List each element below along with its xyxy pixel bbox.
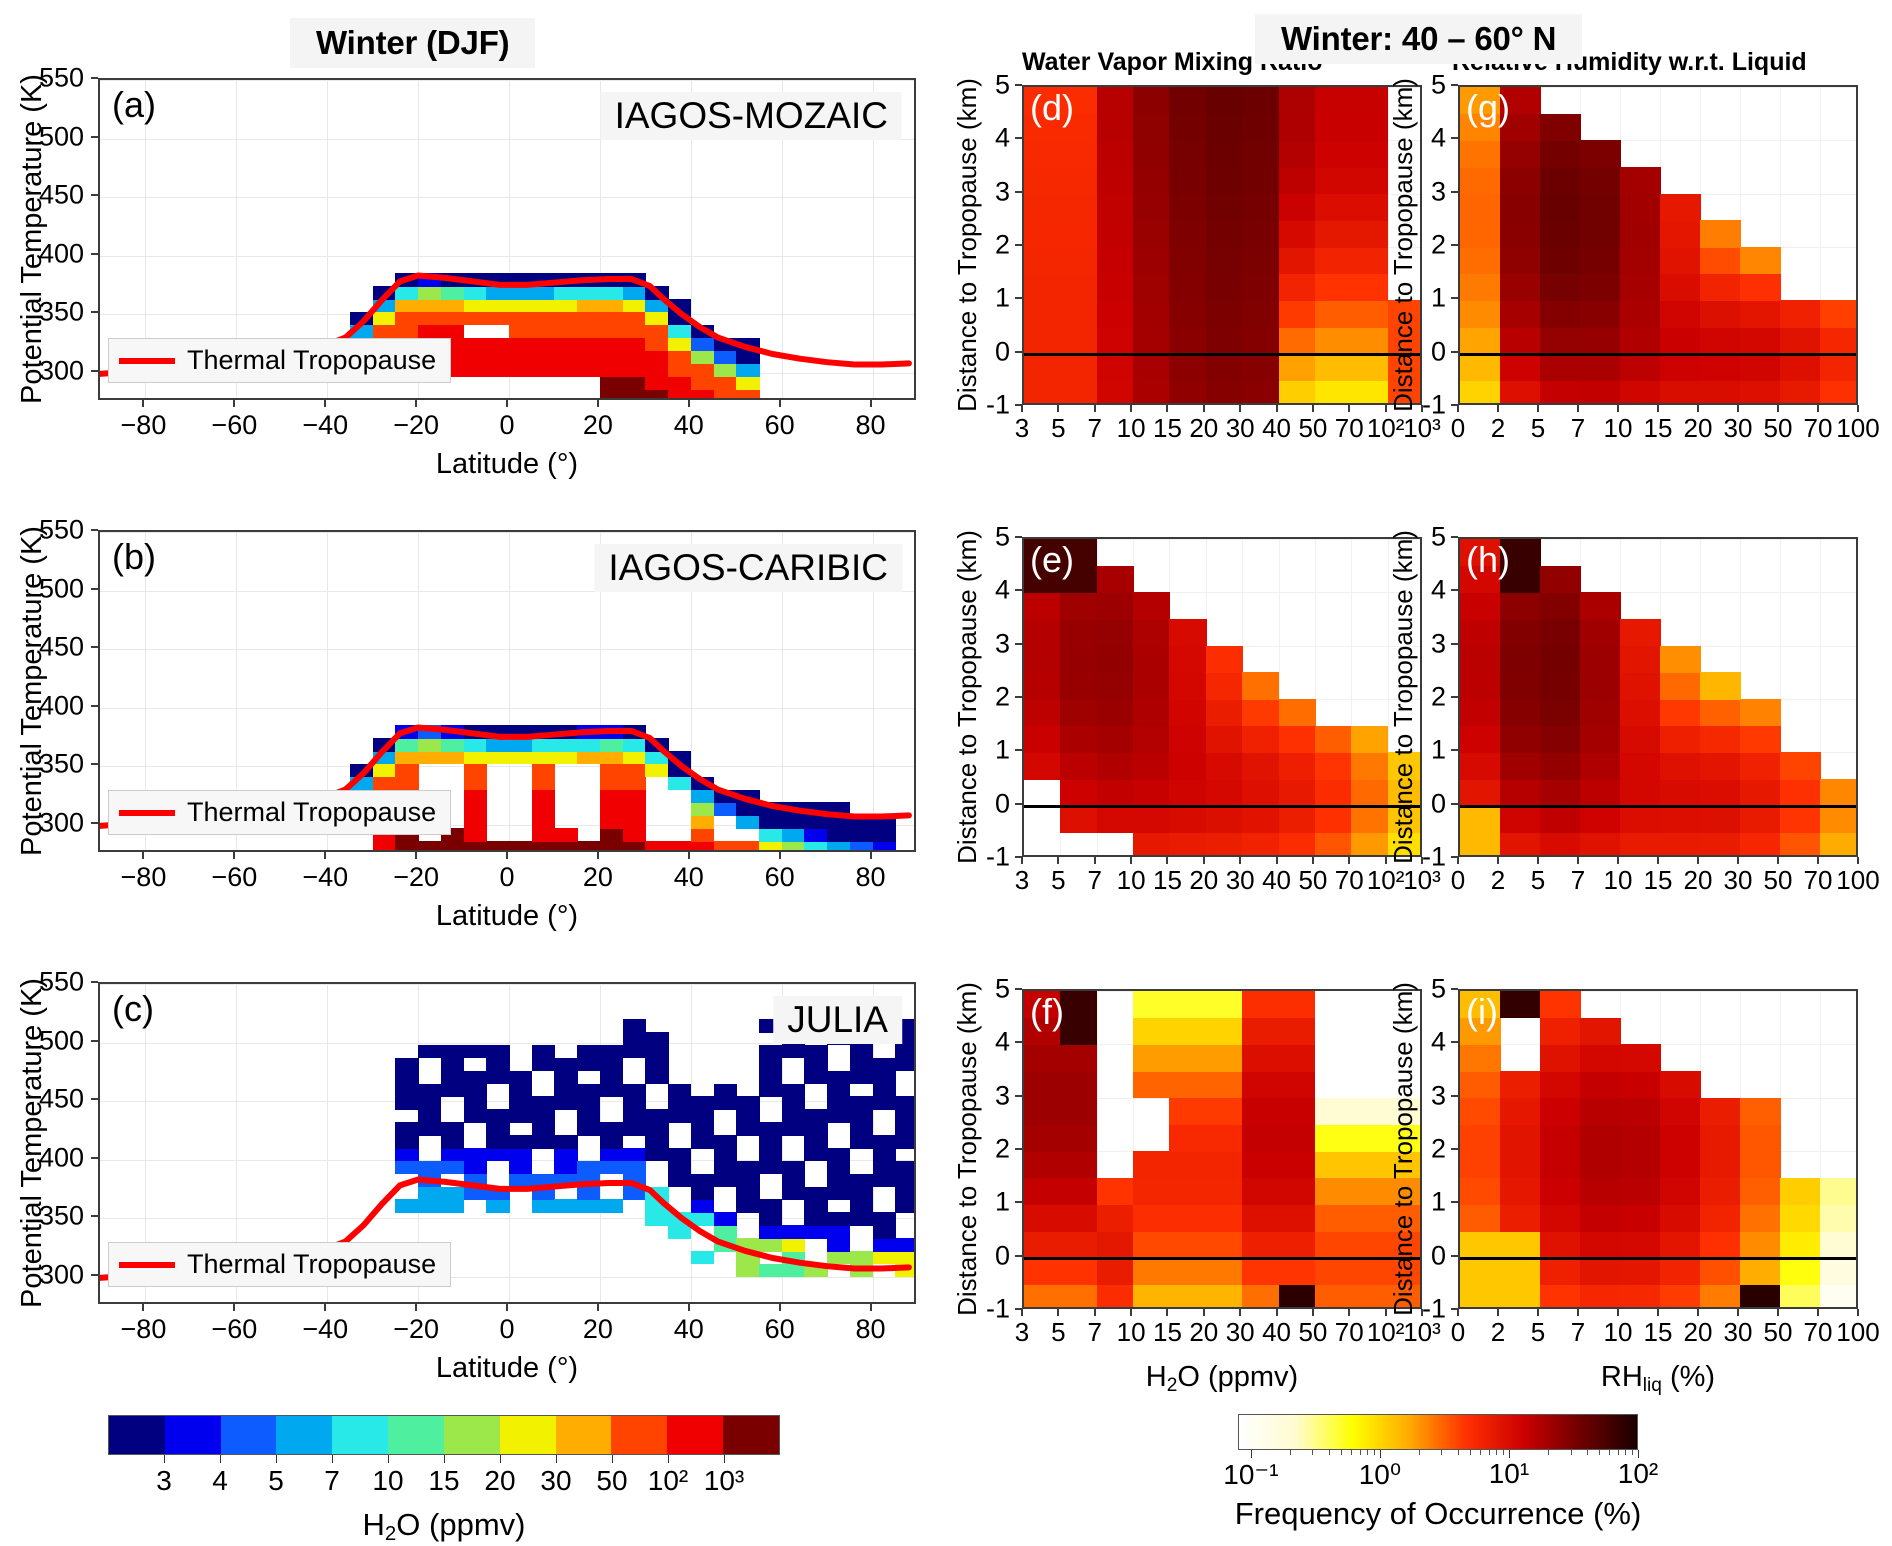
frequency-cell — [1500, 646, 1541, 673]
xtick-label: 20 — [1684, 865, 1713, 896]
ytick-label: 3 — [1431, 176, 1446, 207]
panel-tag-d: (d) — [1030, 87, 1074, 129]
xtick-mark — [1312, 405, 1314, 412]
frequency-cell — [1660, 300, 1701, 327]
frequency-cell — [1169, 114, 1206, 141]
frequency-cell — [1500, 1204, 1541, 1231]
frequency-cell — [1206, 140, 1243, 167]
ytick-mark — [1451, 1201, 1458, 1203]
frequency-cell — [1279, 114, 1316, 141]
frequency-cell — [1700, 1178, 1741, 1205]
xtick-label: 7 — [1571, 413, 1585, 444]
xtick-mark — [233, 1304, 235, 1311]
xtick-label: 5 — [1531, 1317, 1545, 1348]
frequency-cell — [1700, 672, 1741, 699]
frequency-cell — [1660, 380, 1701, 405]
frequency-cell — [1580, 1151, 1621, 1178]
colorbar-segment — [667, 1416, 723, 1454]
frequency-cell — [1620, 699, 1661, 726]
ytick-mark — [91, 1040, 98, 1042]
frequency-cell — [1660, 1204, 1701, 1231]
frequency-cell — [1740, 832, 1781, 857]
frequency-cell — [1780, 779, 1821, 806]
frequency-cell — [1206, 167, 1243, 194]
colorbar-minor-tick — [1470, 1450, 1471, 1455]
frequency-cell — [1540, 220, 1581, 247]
frequency-cell — [1279, 167, 1316, 194]
ytick-mark — [91, 822, 98, 824]
frequency-cell — [1740, 699, 1781, 726]
colorbar-h2o — [108, 1415, 780, 1455]
frequency-cell — [1660, 779, 1701, 806]
frequency-cell — [1169, 274, 1206, 301]
ytick-label: 3 — [995, 628, 1010, 659]
frequency-cell — [1242, 327, 1279, 354]
frequency-cell — [1242, 672, 1279, 699]
panel-tag-e: (e) — [1030, 539, 1074, 581]
suptitle-left: Winter (DJF) — [290, 18, 535, 68]
xtick-label: 70 — [1804, 413, 1833, 444]
frequency-cell — [1580, 354, 1621, 381]
frequency-cell — [1820, 327, 1858, 354]
frequency-cell — [1700, 1204, 1741, 1231]
frequency-cell — [1740, 1258, 1781, 1285]
frequency-cell — [1540, 1178, 1581, 1205]
frequency-cell — [1097, 752, 1134, 779]
xtick-mark — [415, 1304, 417, 1311]
frequency-cell — [1351, 1204, 1388, 1231]
ytick-label: 5 — [995, 522, 1010, 553]
frequency-cell — [1540, 274, 1581, 301]
frequency-cell — [1242, 114, 1279, 141]
frequency-cell — [1206, 1044, 1243, 1071]
xtick-label: 80 — [856, 862, 886, 893]
frequency-cell — [1279, 247, 1316, 274]
frequency-cell — [1133, 1204, 1170, 1231]
xtick-mark — [1094, 1309, 1096, 1316]
xtick-mark — [1239, 405, 1241, 412]
frequency-cell — [1315, 1178, 1352, 1205]
frequency-cell — [1060, 1204, 1097, 1231]
xtick-mark — [1537, 857, 1539, 864]
frequency-cell — [1580, 1018, 1621, 1045]
frequency-cell — [1206, 1018, 1243, 1045]
colorbar-tick-label: 10⁰ — [1359, 1458, 1401, 1491]
ytick-mark — [1015, 351, 1022, 353]
colorbar-minor-tick — [1351, 1450, 1352, 1455]
colorbar-tick — [1509, 1450, 1510, 1458]
tropopause-zero-line — [1024, 353, 1420, 356]
ytick-mark — [91, 370, 98, 372]
ytick-label: -1 — [986, 390, 1010, 421]
frequency-cell — [1242, 167, 1279, 194]
panel-tag-f: (f) — [1030, 991, 1064, 1033]
frequency-cell — [1460, 1231, 1501, 1258]
xtick-mark — [1457, 1309, 1459, 1316]
frequency-cell — [1500, 1284, 1541, 1309]
frequency-cell — [1133, 327, 1170, 354]
frequency-cell — [1700, 1151, 1741, 1178]
xtick-mark — [506, 1304, 508, 1311]
frequency-cell — [1540, 1204, 1581, 1231]
ytick-label: 3 — [995, 176, 1010, 207]
xtick-mark — [1657, 1309, 1659, 1316]
frequency-cell — [1460, 1044, 1501, 1071]
frequency-cell — [1780, 1231, 1821, 1258]
xtick-label: 0 — [1451, 865, 1465, 896]
ytick-label: 4 — [1431, 123, 1446, 154]
frequency-cell — [1206, 1151, 1243, 1178]
frequency-cell — [1097, 1231, 1134, 1258]
frequency-cell — [1024, 274, 1061, 301]
ytick-mark — [1451, 643, 1458, 645]
frequency-cell — [1024, 1098, 1061, 1125]
ytick-mark — [1015, 589, 1022, 591]
xtick-label: 5 — [1051, 413, 1065, 444]
frequency-cell — [1206, 1284, 1243, 1309]
frequency-cell — [1780, 1204, 1821, 1231]
frequency-cell — [1580, 140, 1621, 167]
frequency-cell — [1060, 1178, 1097, 1205]
frequency-cell — [1351, 354, 1388, 381]
frequency-cell — [1351, 1284, 1388, 1309]
colorbar-tick-label: 10³ — [704, 1465, 744, 1497]
colorbar-tick-label: 30 — [540, 1465, 571, 1497]
xtick-label: 10 — [1604, 413, 1633, 444]
frequency-cell — [1780, 1178, 1821, 1205]
colorbar-tick — [500, 1455, 501, 1463]
frequency-cell — [1169, 194, 1206, 221]
xtick-mark — [1385, 405, 1387, 412]
colorbar-minor-tick — [1609, 1450, 1610, 1455]
xtick-label: 15 — [1644, 865, 1673, 896]
frequency-cell — [1206, 699, 1243, 726]
frequency-cell — [1279, 1098, 1316, 1125]
frequency-cell — [1580, 327, 1621, 354]
frequency-cell — [1620, 327, 1661, 354]
frequency-cell — [1620, 832, 1661, 857]
frequency-cell — [1580, 167, 1621, 194]
frequency-cell — [1169, 646, 1206, 673]
colorbar-minor-tick — [1489, 1450, 1490, 1455]
frequency-cell — [1315, 991, 1352, 1018]
dataset-name-0: IAGOS-MOZAIC — [601, 92, 902, 140]
colorbar-segment — [723, 1416, 779, 1454]
xtick-mark — [1577, 857, 1579, 864]
ytick-mark — [91, 705, 98, 707]
frequency-cell — [1060, 726, 1097, 753]
ytick-label: 2 — [995, 230, 1010, 261]
frequency-cell — [1315, 247, 1352, 274]
frequency-cell — [1580, 1284, 1621, 1309]
xtick-mark — [688, 400, 690, 407]
frequency-cell — [1206, 300, 1243, 327]
frequency-cell — [1206, 1204, 1243, 1231]
frequency-cell — [1279, 699, 1316, 726]
colorbar-tick-label: 3 — [156, 1465, 172, 1497]
frequency-cell — [1097, 566, 1134, 593]
colorbar-tick-label: 10² — [1618, 1458, 1658, 1490]
colorbar-minor-tick — [1625, 1450, 1626, 1455]
frequency-cell — [1580, 779, 1621, 806]
ytick-mark — [91, 1215, 98, 1217]
ytick-mark — [1015, 191, 1022, 193]
frequency-cell — [1540, 1071, 1581, 1098]
colorbar-minor-tick — [1632, 1450, 1633, 1455]
frequency-cell — [1206, 1258, 1243, 1285]
frequency-cell — [1133, 1071, 1170, 1098]
colorbar-tick — [388, 1455, 389, 1463]
frequency-cell — [1740, 1124, 1781, 1151]
xtick-mark — [1817, 1309, 1819, 1316]
xtick-label: −40 — [302, 1314, 348, 1345]
frequency-cell — [1820, 1178, 1858, 1205]
frequency-cell — [1024, 646, 1061, 673]
xtick-mark — [1130, 405, 1132, 412]
frequency-cell — [1242, 1018, 1279, 1045]
frequency-cell — [1133, 380, 1170, 405]
frequency-cell — [1279, 1071, 1316, 1098]
frequency-cell — [1060, 806, 1097, 833]
frequency-cell — [1500, 1124, 1541, 1151]
frequency-cell — [1500, 779, 1541, 806]
frequency-cell — [1133, 832, 1170, 857]
frequency-cell — [1169, 726, 1206, 753]
frequency-cell — [1700, 354, 1741, 381]
frequency-cell — [1740, 247, 1781, 274]
frequency-cell — [1780, 752, 1821, 779]
frequency-cell — [1097, 274, 1134, 301]
ytick-label: 1 — [1431, 735, 1446, 766]
frequency-cell — [1620, 752, 1661, 779]
xtick-label: 30 — [1724, 865, 1753, 896]
frequency-cell — [1097, 1204, 1134, 1231]
frequency-cell — [1460, 220, 1501, 247]
frequency-cell — [1700, 699, 1741, 726]
colorbar-title-frequency: Frequency of Occurrence (%) — [1235, 1496, 1642, 1532]
ytick-mark — [1015, 643, 1022, 645]
frequency-cell — [1315, 1018, 1352, 1045]
frequency-cell — [1740, 779, 1781, 806]
frequency-cell — [1351, 1124, 1388, 1151]
xtick-label: 0 — [1451, 413, 1465, 444]
frequency-cell — [1460, 300, 1501, 327]
frequency-cell — [1024, 1204, 1061, 1231]
xaxis-label: Latitude (°) — [436, 900, 578, 933]
ytick-mark — [91, 194, 98, 196]
xtick-label: 5 — [1051, 1317, 1065, 1348]
suptitle-right: Winter: 40 – 60° N — [1255, 14, 1582, 64]
frequency-cell — [1351, 806, 1388, 833]
ytick-label: 4 — [995, 123, 1010, 154]
xtick-label: −60 — [211, 862, 257, 893]
ytick-mark — [1015, 1041, 1022, 1043]
frequency-cell — [1740, 327, 1781, 354]
frequency-cell — [1279, 1124, 1316, 1151]
frequency-cell — [1097, 167, 1134, 194]
ytick-mark — [1451, 244, 1458, 246]
xtick-mark — [1537, 1309, 1539, 1316]
xtick-label: −80 — [121, 862, 167, 893]
frequency-cell — [1620, 220, 1661, 247]
frequency-cell — [1169, 699, 1206, 726]
frequency-cell — [1060, 300, 1097, 327]
xtick-label: 30 — [1724, 413, 1753, 444]
frequency-cell — [1315, 1258, 1352, 1285]
frequency-cell — [1097, 354, 1134, 381]
colorbar-segment — [332, 1416, 388, 1454]
frequency-cell — [1700, 247, 1741, 274]
ytick-mark — [91, 311, 98, 313]
frequency-cell — [1279, 354, 1316, 381]
xtick-mark — [1239, 1309, 1241, 1316]
frequency-cell — [1242, 832, 1279, 857]
xtick-label: −60 — [211, 1314, 257, 1345]
frequency-cell — [1206, 194, 1243, 221]
ytick-mark — [91, 1157, 98, 1159]
frequency-cell — [1580, 1098, 1621, 1125]
xtick-mark — [1166, 857, 1168, 864]
frequency-cell — [1740, 1098, 1781, 1125]
frequency-cell — [1540, 167, 1581, 194]
xtick-mark — [1777, 857, 1779, 864]
frequency-cell — [1620, 1071, 1661, 1098]
frequency-cell — [1315, 194, 1352, 221]
xtick-label: 7 — [1571, 1317, 1585, 1348]
colorbar-segment — [109, 1416, 165, 1454]
xtick-label: 10 — [1117, 1317, 1146, 1348]
frequency-cell — [1351, 1258, 1388, 1285]
frequency-cell — [1660, 752, 1701, 779]
ytick-mark — [1015, 297, 1022, 299]
frequency-cell — [1097, 646, 1134, 673]
frequency-cell — [1740, 806, 1781, 833]
frequency-cell — [1500, 752, 1541, 779]
colorbar-minor-tick — [1367, 1450, 1368, 1455]
frequency-cell — [1460, 1178, 1501, 1205]
frequency-cell — [1460, 726, 1501, 753]
xtick-mark — [1312, 1309, 1314, 1316]
frequency-cell — [1169, 1044, 1206, 1071]
frequency-cell — [1460, 832, 1501, 857]
xtick-mark — [1457, 857, 1459, 864]
panel-tag-b: (b) — [112, 536, 156, 578]
frequency-cell — [1460, 1204, 1501, 1231]
frequency-cell — [1315, 220, 1352, 247]
frequency-cell — [1169, 87, 1206, 114]
frequency-cell — [1097, 87, 1134, 114]
frequency-cell — [1315, 1204, 1352, 1231]
xtick-mark — [1697, 1309, 1699, 1316]
frequency-cell — [1740, 752, 1781, 779]
ytick-mark — [1451, 1255, 1458, 1257]
frequency-cell — [1206, 220, 1243, 247]
frequency-cell — [1315, 380, 1352, 405]
xtick-label: 2 — [1491, 865, 1505, 896]
frequency-cell — [1024, 380, 1061, 405]
frequency-cell — [1097, 194, 1134, 221]
frequency-cell — [1460, 1284, 1501, 1309]
xtick-mark — [1457, 405, 1459, 412]
frequency-cell — [1351, 779, 1388, 806]
ytick-label: 5 — [1431, 70, 1446, 101]
ytick-mark — [91, 253, 98, 255]
xtick-label: 3 — [1015, 413, 1029, 444]
frequency-cell — [1820, 779, 1858, 806]
frequency-cell — [1820, 354, 1858, 381]
frequency-cell — [1279, 194, 1316, 221]
frequency-cell — [1700, 779, 1741, 806]
xtick-label: 15 — [1153, 865, 1182, 896]
frequency-cell — [1660, 1151, 1701, 1178]
frequency-cell — [1540, 1231, 1581, 1258]
xtick-mark — [142, 852, 144, 859]
ytick-label: 4 — [995, 1027, 1010, 1058]
frequency-cell — [1060, 991, 1097, 1018]
frequency-cell — [1580, 247, 1621, 274]
frequency-cell — [1133, 726, 1170, 753]
frequency-cell — [1279, 140, 1316, 167]
frequency-cell — [1133, 194, 1170, 221]
xtick-label: −20 — [393, 862, 439, 893]
frequency-cell — [1097, 220, 1134, 247]
xtick-label: 100 — [1836, 1317, 1879, 1348]
ytick-label: 1 — [1431, 283, 1446, 314]
frequency-cell — [1060, 592, 1097, 619]
frequency-cell — [1279, 806, 1316, 833]
frequency-cell — [1169, 806, 1206, 833]
xtick-label: −60 — [211, 410, 257, 441]
frequency-cell — [1460, 194, 1501, 221]
frequency-cell — [1820, 1284, 1858, 1309]
colorbar-minor-tick — [1571, 1450, 1572, 1455]
frequency-cell — [1620, 167, 1661, 194]
frequency-cell — [1315, 140, 1352, 167]
frequency-cell — [1133, 646, 1170, 673]
frequency-cell — [1540, 699, 1581, 726]
frequency-cell — [1206, 991, 1243, 1018]
xtick-mark — [1857, 857, 1859, 864]
frequency-cell — [1351, 1151, 1388, 1178]
frequency-cell — [1169, 779, 1206, 806]
frequency-cell — [1740, 1151, 1781, 1178]
frequency-cell — [1580, 832, 1621, 857]
frequency-cell — [1700, 726, 1741, 753]
colorbar-tick — [612, 1455, 613, 1463]
colorbar-tick-label: 10⁻¹ — [1223, 1458, 1278, 1491]
xtick-mark — [1130, 857, 1132, 864]
frequency-cell — [1097, 592, 1134, 619]
xtick-label: 15 — [1644, 413, 1673, 444]
xtick-label: 30 — [1226, 865, 1255, 896]
frequency-cell — [1024, 140, 1061, 167]
frequency-cell — [1351, 1044, 1388, 1071]
frequency-cell — [1097, 140, 1134, 167]
frequency-cell — [1315, 1098, 1352, 1125]
colorbar-tick-label: 10¹ — [1489, 1458, 1529, 1490]
ytick-label: 3 — [1431, 1080, 1446, 1111]
frequency-cell — [1133, 167, 1170, 194]
frequency-cell — [1279, 1178, 1316, 1205]
xtick-mark — [1130, 1309, 1132, 1316]
frequency-cell — [1460, 699, 1501, 726]
xtick-mark — [1057, 1309, 1059, 1316]
frequency-cell — [1206, 1231, 1243, 1258]
colorbar-minor-tick — [1587, 1450, 1588, 1455]
panel-tag-c: (c) — [112, 988, 154, 1030]
frequency-cell — [1242, 1284, 1279, 1309]
xtick-label: 15 — [1153, 1317, 1182, 1348]
